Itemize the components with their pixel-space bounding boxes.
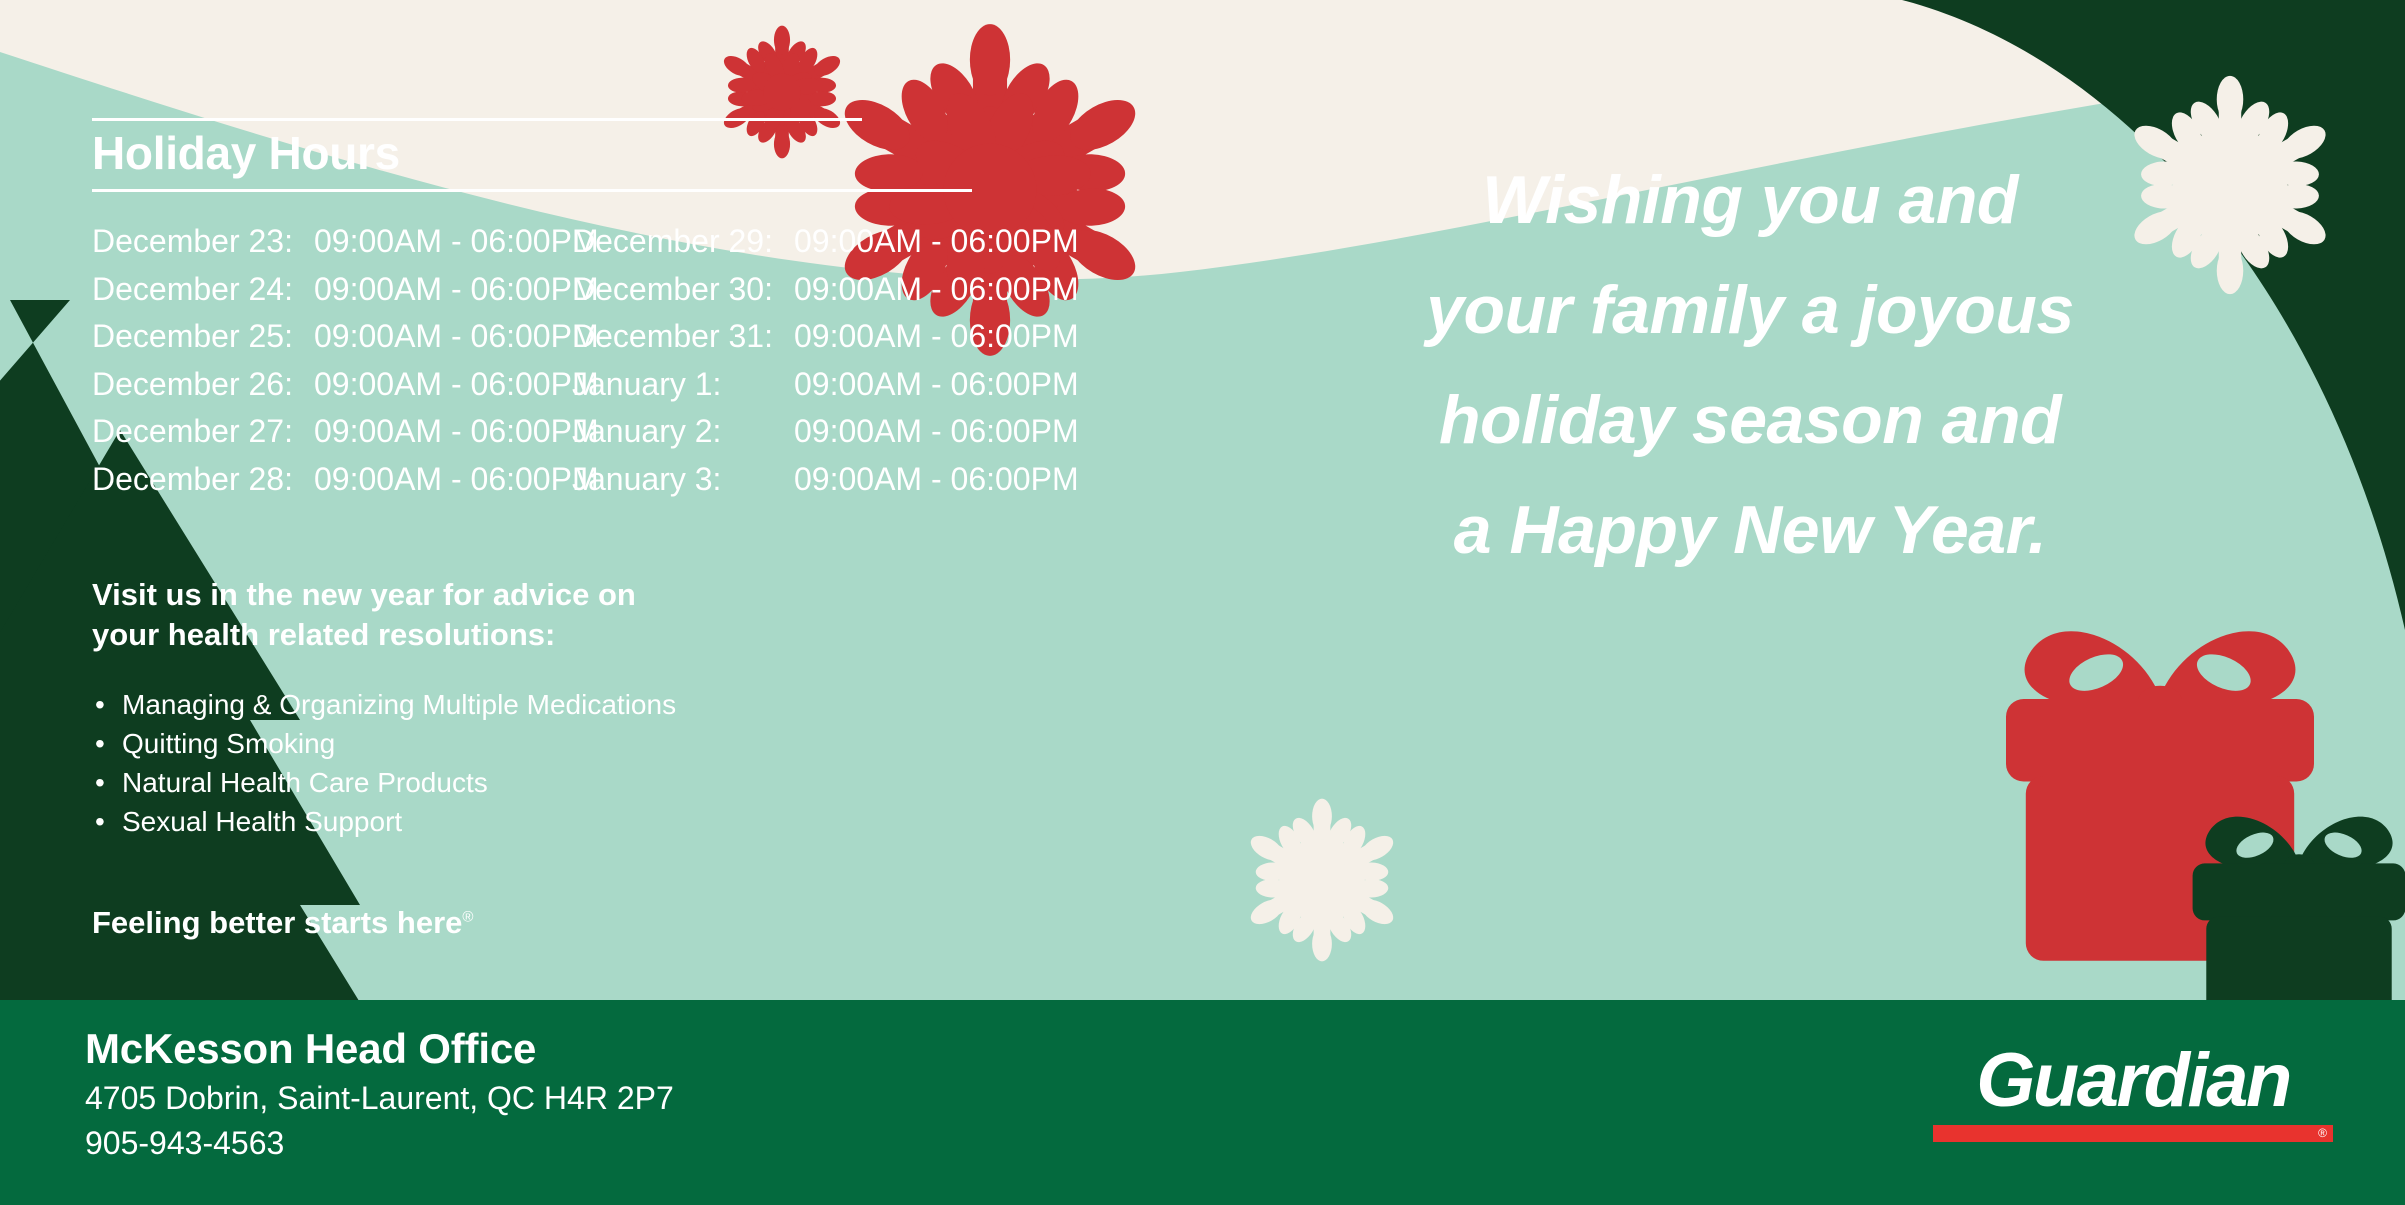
guardian-logo: Guardian ®: [1933, 1040, 2333, 1142]
hours-day-label: December 27:: [92, 408, 314, 456]
hours-row: January 1: 09:00AM - 06:00PM: [572, 361, 1072, 409]
hours-row: December 31: 09:00AM - 06:00PM: [572, 313, 1072, 361]
hours-day-label: January 3:: [572, 456, 794, 504]
list-item: • Managing & Organizing Multiple Medicat…: [92, 685, 912, 724]
hours-grid: December 23: 09:00AM - 06:00PM December …: [92, 218, 1132, 503]
registered-mark-icon: ®: [2318, 1125, 2327, 1142]
footer-bar: McKesson Head Office 4705 Dobrin, Saint-…: [0, 1000, 2405, 1205]
list-item-label: Managing & Organizing Multiple Medicatio…: [122, 689, 676, 720]
hours-row: December 24: 09:00AM - 06:00PM: [92, 266, 572, 314]
list-item: • Quitting Smoking: [92, 724, 912, 763]
list-item: • Sexual Health Support: [92, 802, 912, 841]
greeting-line: your family a joyous: [1370, 255, 2130, 365]
hours-day-label: December 26:: [92, 361, 314, 409]
logo-underline-bar: ®: [1933, 1125, 2333, 1142]
resolutions-block: Visit us in the new year for advice on y…: [92, 575, 912, 841]
hours-day-label: December 30:: [572, 266, 794, 314]
hours-row: January 3: 09:00AM - 06:00PM: [572, 456, 1072, 504]
greeting-line: holiday season and: [1370, 365, 2130, 475]
hours-row: December 30: 09:00AM - 06:00PM: [572, 266, 1072, 314]
bullet-icon: •: [95, 802, 105, 841]
holiday-hours-block: Holiday Hours December 23: 09:00AM - 06:…: [92, 118, 1132, 503]
hours-time-value: 09:00AM - 06:00PM: [794, 218, 1079, 266]
hours-time-value: 09:00AM - 06:00PM: [314, 408, 599, 456]
list-item: • Natural Health Care Products: [92, 763, 912, 802]
hours-row: January 2: 09:00AM - 06:00PM: [572, 408, 1072, 456]
bullet-icon: •: [95, 724, 105, 763]
registered-mark-icon: ®: [462, 909, 473, 926]
resolutions-heading-line2: your health related resolutions:: [92, 615, 912, 655]
bullet-icon: •: [95, 763, 105, 802]
hours-row: December 26: 09:00AM - 06:00PM: [92, 361, 572, 409]
footer-address-block: McKesson Head Office 4705 Dobrin, Saint-…: [85, 1022, 674, 1166]
bullet-icon: •: [95, 685, 105, 724]
page-title: Holiday Hours: [92, 121, 1132, 183]
hours-time-value: 09:00AM - 06:00PM: [794, 266, 1079, 314]
resolutions-heading: Visit us in the new year for advice on y…: [92, 575, 912, 655]
list-item-label: Natural Health Care Products: [122, 767, 488, 798]
hours-day-label: January 1:: [572, 361, 794, 409]
tagline: Feeling better starts here®: [92, 905, 473, 941]
hours-time-value: 09:00AM - 06:00PM: [794, 408, 1079, 456]
hours-day-label: December 25:: [92, 313, 314, 361]
resolutions-heading-line1: Visit us in the new year for advice on: [92, 575, 912, 615]
holiday-card: Holiday Hours December 23: 09:00AM - 06:…: [0, 0, 2405, 1205]
resolutions-list: • Managing & Organizing Multiple Medicat…: [92, 685, 912, 841]
divider-bottom: [92, 189, 972, 192]
list-item-label: Quitting Smoking: [122, 728, 335, 759]
greeting-line: a Happy New Year.: [1370, 475, 2130, 585]
greeting-message: Wishing you and your family a joyous hol…: [1370, 145, 2130, 585]
office-address: 4705 Dobrin, Saint-Laurent, QC H4R 2P7: [85, 1076, 674, 1121]
hours-day-label: December 31:: [572, 313, 794, 361]
logo-wordmark: Guardian: [1933, 1040, 2333, 1122]
hours-day-label: December 24:: [92, 266, 314, 314]
hours-time-value: 09:00AM - 06:00PM: [314, 313, 599, 361]
hours-row: December 29: 09:00AM - 06:00PM: [572, 218, 1072, 266]
hours-row: December 28: 09:00AM - 06:00PM: [92, 456, 572, 504]
hours-row: December 23: 09:00AM - 06:00PM: [92, 218, 572, 266]
hours-time-value: 09:00AM - 06:00PM: [314, 361, 599, 409]
hours-day-label: December 28:: [92, 456, 314, 504]
hours-time-value: 09:00AM - 06:00PM: [314, 456, 599, 504]
greeting-line: Wishing you and: [1370, 145, 2130, 255]
hours-day-label: December 23:: [92, 218, 314, 266]
hours-day-label: December 29:: [572, 218, 794, 266]
list-item-label: Sexual Health Support: [122, 806, 402, 837]
hours-time-value: 09:00AM - 06:00PM: [794, 361, 1079, 409]
office-phone[interactable]: 905-943-4563: [85, 1121, 674, 1166]
tagline-text: Feeling better starts here: [92, 905, 462, 940]
hours-time-value: 09:00AM - 06:00PM: [314, 266, 599, 314]
hours-time-value: 09:00AM - 06:00PM: [794, 456, 1079, 504]
office-name: McKesson Head Office: [85, 1022, 674, 1076]
hours-day-label: January 2:: [572, 408, 794, 456]
hours-row: December 25: 09:00AM - 06:00PM: [92, 313, 572, 361]
hours-time-value: 09:00AM - 06:00PM: [794, 313, 1079, 361]
hours-time-value: 09:00AM - 06:00PM: [314, 218, 599, 266]
hours-row: December 27: 09:00AM - 06:00PM: [92, 408, 572, 456]
